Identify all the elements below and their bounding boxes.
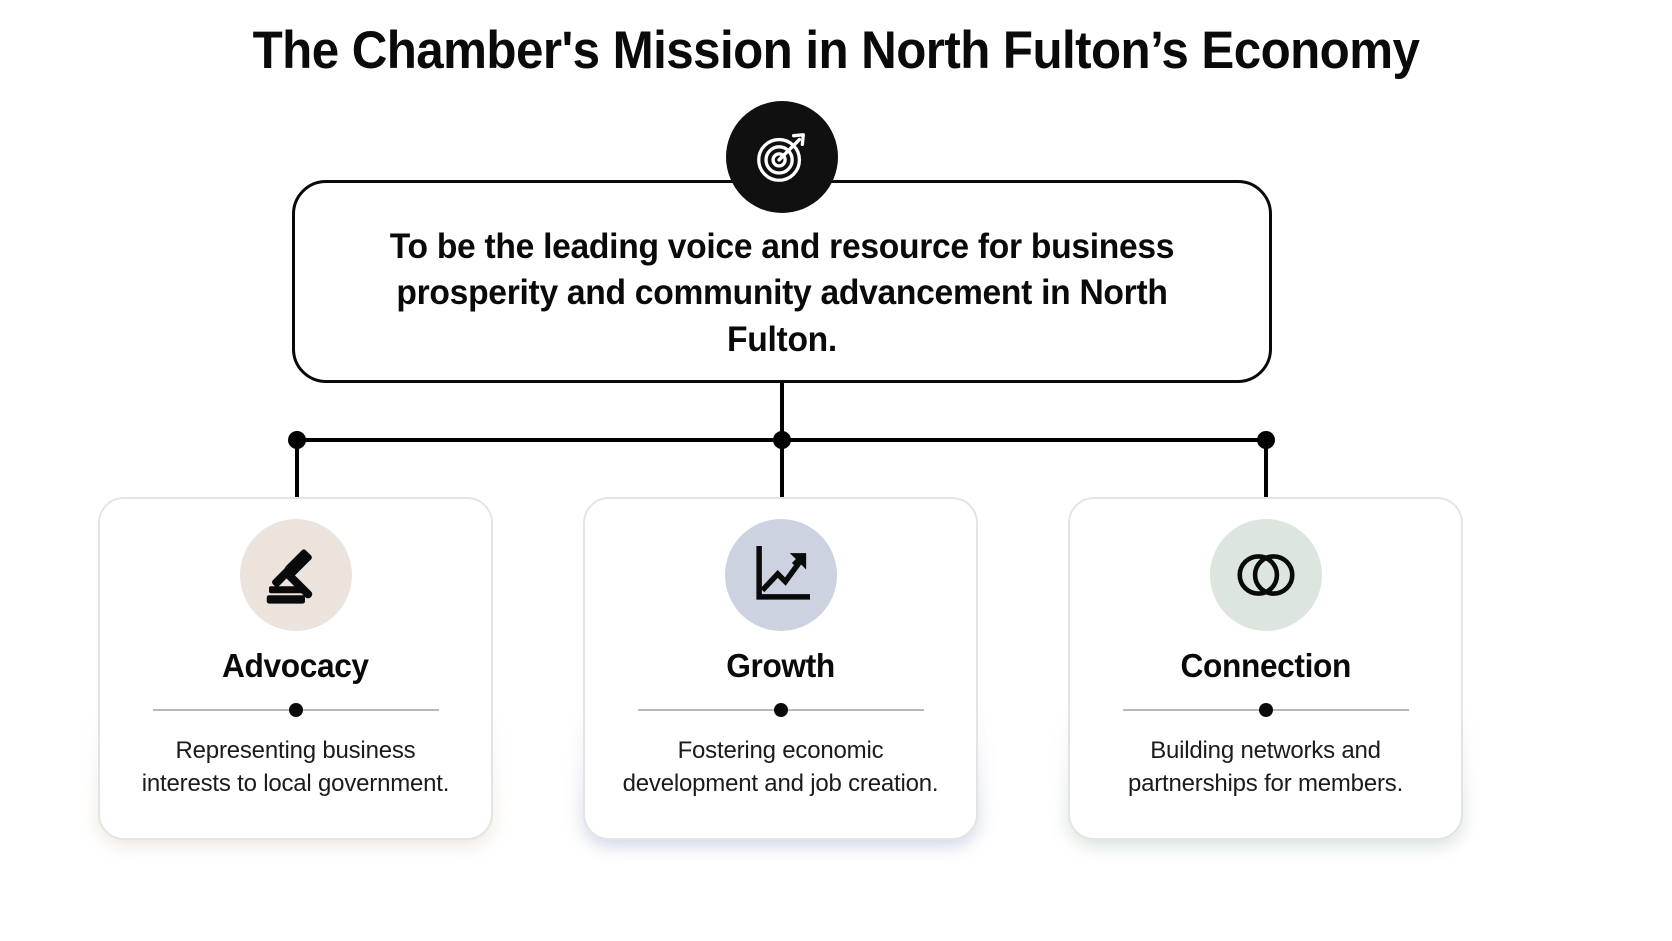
card-divider-connection bbox=[1123, 703, 1409, 717]
gavel-icon bbox=[240, 519, 352, 631]
divider-dot bbox=[289, 703, 303, 717]
page-title: The Chamber's Mission in North Fulton’s … bbox=[59, 22, 1614, 79]
card-divider-growth bbox=[638, 703, 924, 717]
pillar-description-connection: Building networks and partnerships for m… bbox=[1101, 734, 1431, 800]
connector-drop-advocacy bbox=[295, 440, 299, 500]
connector-drop-connection bbox=[1264, 440, 1268, 500]
overlapping-circles-icon bbox=[1210, 519, 1322, 631]
pillar-description-advocacy: Representing business interests to local… bbox=[131, 734, 461, 800]
pillar-card-connection[interactable]: Connection Building networks and partner… bbox=[1068, 497, 1463, 840]
divider-dot bbox=[774, 703, 788, 717]
chart-line-up-icon bbox=[725, 519, 837, 631]
infographic-canvas: The Chamber's Mission in North Fulton’s … bbox=[0, 0, 1672, 941]
pillar-title-growth: Growth bbox=[726, 647, 835, 685]
divider-dot bbox=[1259, 703, 1273, 717]
pillar-title-advocacy: Advocacy bbox=[222, 647, 369, 685]
mission-statement-text: To be the leading voice and resource for… bbox=[314, 224, 1249, 363]
pillar-card-growth[interactable]: Growth Fostering economic development an… bbox=[583, 497, 978, 840]
pillar-title-connection: Connection bbox=[1180, 647, 1350, 685]
card-divider-advocacy bbox=[153, 703, 439, 717]
pillar-card-advocacy[interactable]: Advocacy Representing business interests… bbox=[98, 497, 493, 840]
connector-drop-growth bbox=[780, 440, 784, 500]
pillar-description-growth: Fostering economic development and job c… bbox=[616, 734, 946, 800]
target-icon bbox=[726, 101, 838, 213]
